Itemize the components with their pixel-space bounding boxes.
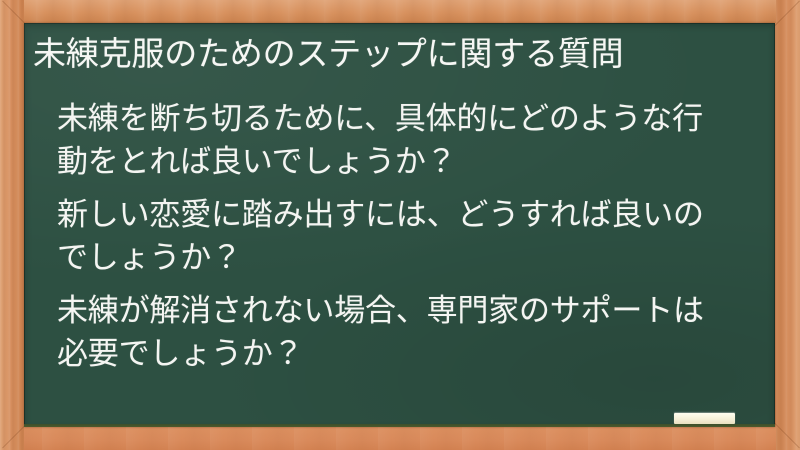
- frame-rail-top: [0, 0, 800, 23]
- frame-rail-left: [0, 0, 24, 450]
- chalk-stick-icon: [674, 413, 735, 424]
- frame-rail-bottom: [0, 427, 800, 450]
- chalkboard-slide: 未練克服のためのステップに関する質問 未練を断ち切るために、具体的にどのような行…: [0, 0, 800, 450]
- list-item: 未練を断ち切るために、具体的にどのような行動をとれば良いでしょうか？: [57, 97, 755, 183]
- page-title: 未練克服のためのステップに関する質問: [33, 33, 755, 75]
- board-bottom-edge: [24, 424, 775, 427]
- chalkboard-surface: 未練克服のためのステップに関する質問 未練を断ち切るために、具体的にどのような行…: [24, 23, 775, 427]
- frame-rail-right: [776, 0, 800, 450]
- list-item: 未練が解消されない場合、専門家のサポートは必要でしょうか？: [57, 289, 755, 375]
- list-item: 新しい恋愛に踏み出すには、どうすれば良いのでしょうか？: [57, 193, 755, 279]
- slide-content: 未練克服のためのステップに関する質問 未練を断ち切るために、具体的にどのような行…: [24, 23, 775, 427]
- question-list: 未練を断ち切るために、具体的にどのような行動をとれば良いでしょうか？ 新しい恋愛…: [33, 97, 755, 375]
